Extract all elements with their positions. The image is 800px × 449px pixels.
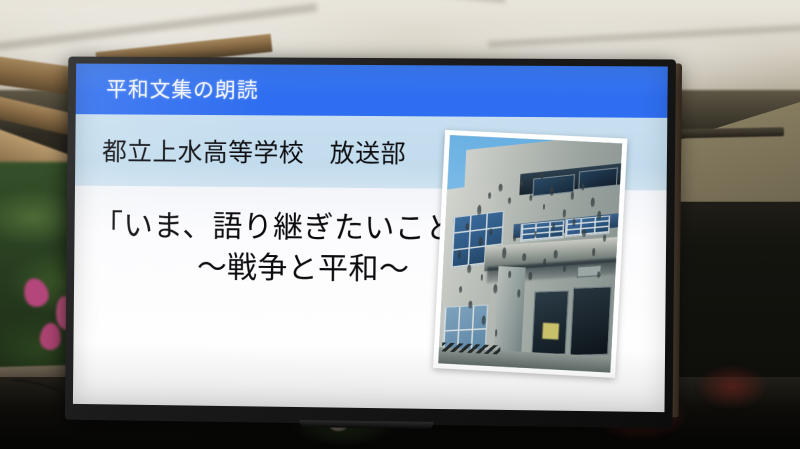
photo-yellow-panel [543,323,559,340]
photo-bullet-hole [489,228,492,235]
canopy-fold [237,0,505,3]
photo-bullet-hole [543,259,546,266]
tv-screen: 平和文集の朗読 都立上水高等学校 放送部 「いま、語り継ぎたいこと」 〜戦争と平… [73,64,668,413]
slide-title: 平和文集の朗読 [106,74,259,105]
slide-header-band: 平和文集の朗読 [76,64,668,118]
television: 平和文集の朗読 都立上水高等学校 放送部 「いま、語り継ぎたいこと」 〜戦争と平… [65,57,676,429]
background-blur [696,364,768,409]
slide-photo-frame [433,130,627,378]
tv-bezel: 平和文集の朗読 都立上水高等学校 放送部 「いま、語り継ぎたいこと」 〜戦争と平… [65,57,676,429]
photo-bullet-hole [479,237,483,246]
photo-bullet-hole [554,250,558,259]
photo-window [520,220,564,242]
photo-bullet-hole [522,253,526,261]
photo-bullet-hole [466,222,469,230]
slide-photo [438,135,621,372]
photo-bullet-hole [597,211,601,220]
photo-bullet-hole [552,222,555,230]
photo-window [569,286,611,356]
presentation-slide: 平和文集の朗読 都立上水高等学校 放送部 「いま、語り継ぎたいこと」 〜戦争と平… [73,64,668,413]
slide-subtitle: 都立上水高等学校 放送部 [102,132,406,170]
photo-bullet-hole [468,300,472,308]
photo-bullet-hole [508,270,511,278]
photo-bullet-hole [529,194,532,202]
photo-bullet-hole [467,264,471,274]
photo-bullet-hole [499,183,503,192]
slide-subline: 〜戦争と平和〜 [197,242,410,288]
slide-headline: 「いま、語り継ぎたいこと」 [93,201,487,249]
photo-bullet-hole [481,315,485,325]
photo-bullet-hole [477,205,482,216]
canopy-fold [488,22,800,47]
photographed-scene: 平和文集の朗読 都立上水高等学校 放送部 「いま、語り継ぎたいこと」 〜戦争と平… [0,0,800,449]
slide-body: 「いま、語り継ぎたいこと」 〜戦争と平和〜 [73,185,667,412]
photo-bullet-hole [459,286,462,293]
